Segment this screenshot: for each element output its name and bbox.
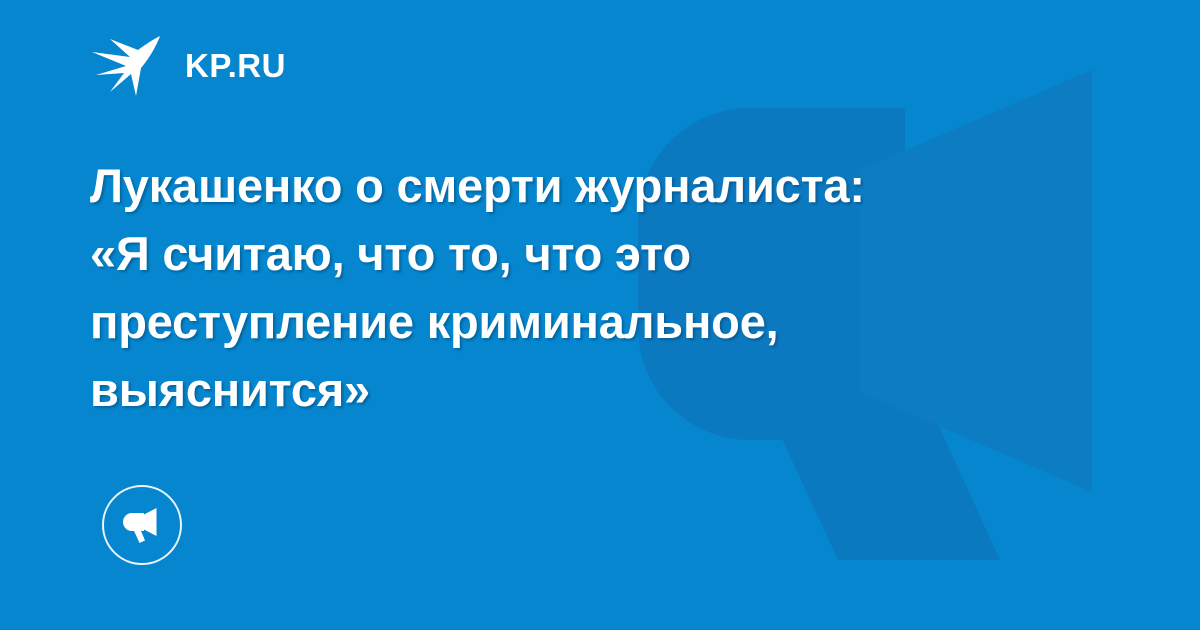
- headline-line-4: выяснится»: [90, 356, 1090, 424]
- page-title: Лукашенко о смерти журналиста: «Я считаю…: [90, 152, 1090, 424]
- site-header: KP.RU: [90, 34, 286, 96]
- swallow-bird-logo-icon[interactable]: [90, 34, 164, 96]
- headline-line-1: Лукашенко о смерти журналиста:: [90, 152, 1090, 220]
- megaphone-icon: [119, 502, 165, 548]
- megaphone-badge-button[interactable]: [102, 485, 182, 565]
- headline-line-3: преступление криминальное,: [90, 288, 1090, 356]
- headline-line-2: «Я считаю, что то, что это: [90, 220, 1090, 288]
- brand-name[interactable]: KP.RU: [185, 49, 286, 82]
- social-share-card: KP.RU Лукашенко о смерти журналиста: «Я …: [0, 0, 1200, 630]
